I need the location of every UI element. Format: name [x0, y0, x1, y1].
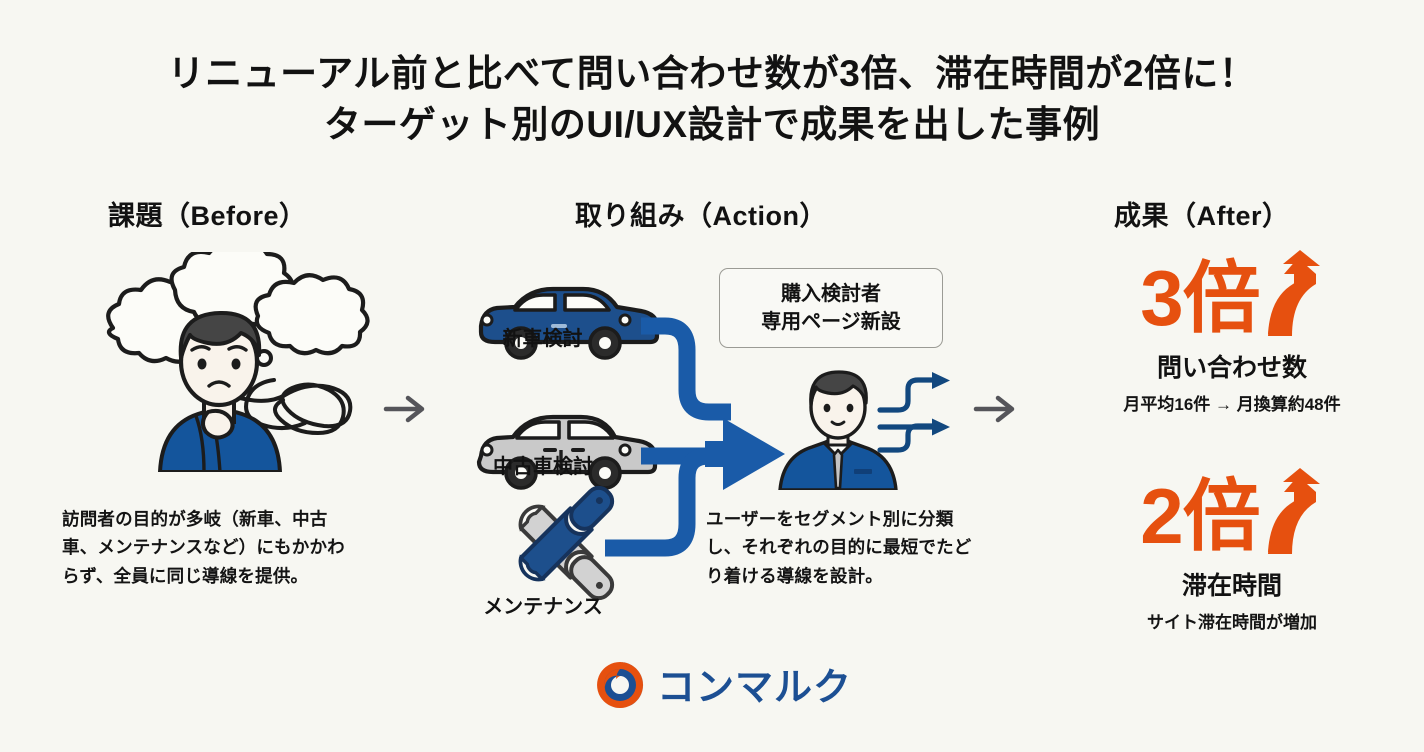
result-card-session-time: 2倍 滞在時間 サイト滞在時間が増加 [1082, 470, 1382, 633]
staff-person-illustration [770, 365, 960, 495]
spiral-circle-mark-icon [595, 660, 645, 715]
callout-box-new-page: 購入検討者 専用ページ新設 [719, 268, 943, 348]
column-heading-before: 課題（Before） [108, 194, 307, 233]
result-subtext: 月平均16件 → 月換算約48件 [1082, 390, 1382, 415]
callout-line-2: 専用ページ新設 [761, 308, 901, 336]
worried-person-illustration [78, 252, 378, 477]
column-heading-after: 成果（After） [1114, 194, 1290, 233]
transition-arrow-before-to-action [382, 392, 428, 431]
action-description: ユーザーをセグメント別に分類し、それぞれの目的に最短でたどり着ける導線を設計。 [706, 505, 978, 590]
upward-trend-arrow-icon [1262, 468, 1324, 559]
result-multiplier-value: 3倍 [1140, 259, 1259, 337]
crossed-wrenches-icon [515, 481, 618, 604]
title-line-1: リニューアル前と比べて問い合わせ数が3倍、滞在時間が2倍に！ [0, 48, 1424, 99]
upward-trend-arrow-icon [1262, 250, 1324, 341]
infographic-canvas: リニューアル前と比べて問い合わせ数が3倍、滞在時間が2倍に！ ターゲット別のUI… [0, 0, 1424, 752]
title-line-2: ターゲット別のUI/UX設計で成果を出した事例 [0, 99, 1424, 150]
flow-arrow-heads [932, 372, 950, 436]
callout-line-1: 購入検討者 [781, 280, 881, 308]
result-label: 滞在時間 [1082, 566, 1382, 602]
brand-logo: コンマルク [595, 660, 852, 715]
result-multiplier-row: 3倍 [1082, 252, 1382, 344]
column-heading-action: 取り組み（Action） [575, 194, 827, 233]
segment-label-new-car: 新車検討 [455, 322, 630, 351]
segment-label-used-car: 中古車検討 [448, 450, 638, 479]
segment-label-maintenance: メンテナンス [448, 590, 638, 619]
result-label: 問い合わせ数 [1082, 348, 1382, 384]
result-multiplier-row: 2倍 [1082, 470, 1382, 562]
result-multiplier-value: 2倍 [1140, 477, 1259, 555]
before-description: 訪問者の目的が多岐（新車、中古車、メンテナンスなど）にもかかわらず、全員に同じ導… [62, 505, 354, 590]
result-subtext: サイト滞在時間が増加 [1082, 608, 1382, 633]
segmented-flow-arrows [880, 380, 938, 450]
brand-logo-text: コンマルク [657, 669, 852, 707]
page-title: リニューアル前と比べて問い合わせ数が3倍、滞在時間が2倍に！ ターゲット別のUI… [0, 48, 1424, 150]
result-card-inquiries: 3倍 問い合わせ数 月平均16件 → 月換算約48件 [1082, 252, 1382, 415]
transition-arrow-action-to-after [972, 392, 1018, 431]
